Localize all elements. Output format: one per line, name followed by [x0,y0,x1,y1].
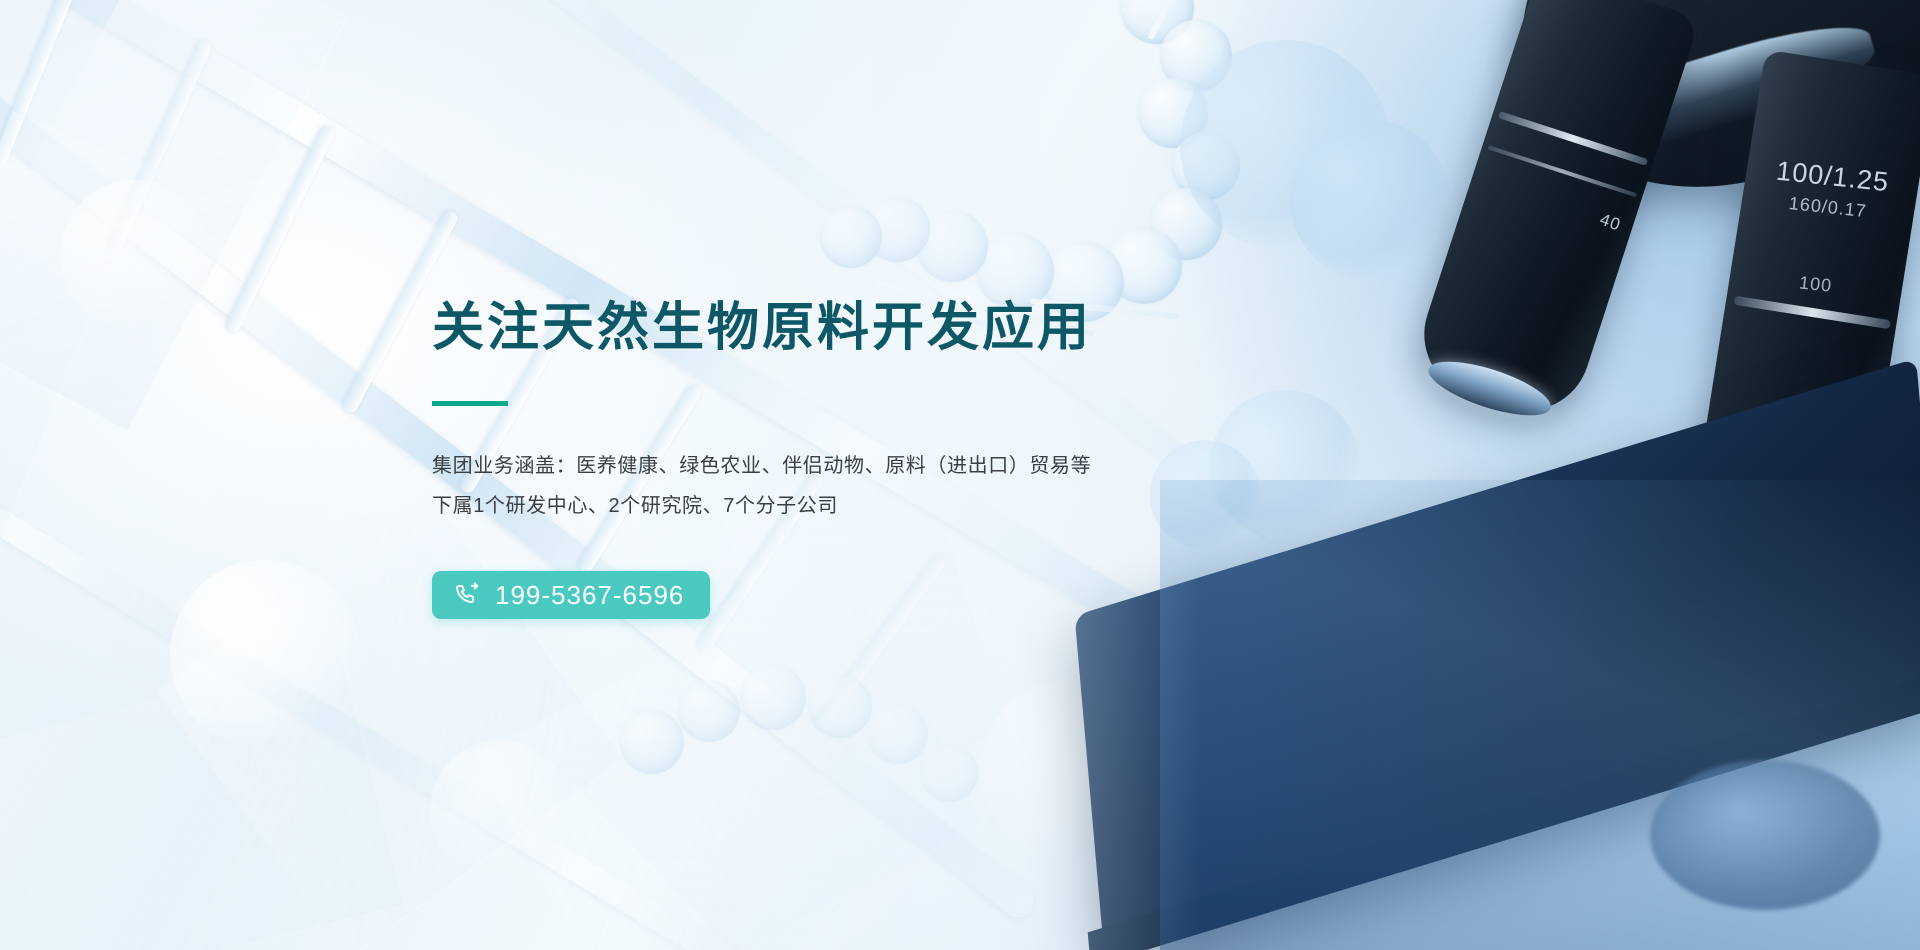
objective-lens-tip [1423,351,1556,427]
objective-band [1498,111,1649,166]
objective-magnification-front-label: 40 [1597,210,1624,236]
microscope-objective-rear: 100/1.25 160/0.17 100 [1692,49,1920,540]
microscope-glow [1160,0,1920,640]
hero-banner: 40 100/1.25 160/0.17 100 关注天然生物原料开发应用 集团… [0,0,1920,950]
phone-number-label: 199-5367-6596 [495,580,684,611]
objective-band [1488,145,1638,197]
microscope-turret [1486,0,1920,227]
molecule-bond [1147,0,1209,40]
glass-shard [0,0,348,432]
molecule-bead [868,704,928,764]
glass-shard [0,111,152,649]
objective-band [1734,296,1891,330]
bokeh-light [60,180,210,330]
objective-magnification-rear-label: 100 [1729,265,1902,304]
microscope-stage-edge [1088,675,1920,950]
hero-description-line-2: 下属1个研发中心、2个研究院、7个分子公司 [432,486,1252,526]
microscope-graphic: 40 100/1.25 160/0.17 100 [1160,0,1920,950]
molecule-bead [820,206,882,268]
phone-forward-icon [454,582,481,609]
hero-description-line-1: 集团业务涵盖：医养健康、绿色农业、伴侣动物、原料（进出口）贸易等 [432,446,1252,486]
molecule-bead [1150,188,1222,260]
bokeh-light [980,680,1160,860]
dna-rung [106,38,213,254]
objective-aperture-bottom-label: 160/0.17 [1741,188,1914,227]
bokeh-light [1290,120,1450,280]
molecule-bead [864,196,930,262]
call-phone-button[interactable]: 199-5367-6596 [432,571,710,619]
microscope-stage-clip [1595,553,1836,657]
molecule-bead [620,710,684,774]
molecule-bead [1138,78,1208,148]
title-divider [432,401,508,406]
dna-rung [223,123,336,335]
molecule-bead [1172,132,1240,200]
molecule-bead [916,210,988,282]
objective-aperture-top-label: 100/1.25 [1746,153,1920,202]
molecule-bead [740,664,806,730]
dna-rung [0,0,87,171]
page-title: 关注天然生物原料开发应用 [432,300,1252,357]
molecule-bead [1120,0,1194,44]
microscope-turret-ring [1518,9,1883,181]
molecule-bead [1160,20,1232,92]
molecule-bead [808,674,872,738]
glass-shard [0,653,405,950]
hero-content: 关注天然生物原料开发应用 集团业务涵盖：医养健康、绿色农业、伴侣动物、原料（进出… [432,300,1252,619]
molecule-bead [920,744,978,802]
bokeh-light [170,560,360,750]
hero-description: 集团业务涵盖：医养健康、绿色农业、伴侣动物、原料（进出口）贸易等 下属1个研发中… [432,446,1252,526]
molecule-bead [1106,228,1182,304]
molecule-bead [678,680,740,742]
molecule-chain-graphic [600,640,1120,950]
microscope-blue-wash [1160,480,1920,950]
microscope-objective-front: 40 [1408,0,1701,427]
bokeh-light [1180,40,1390,250]
bokeh-light [430,740,570,880]
microscope-focus-knob [1650,760,1880,910]
